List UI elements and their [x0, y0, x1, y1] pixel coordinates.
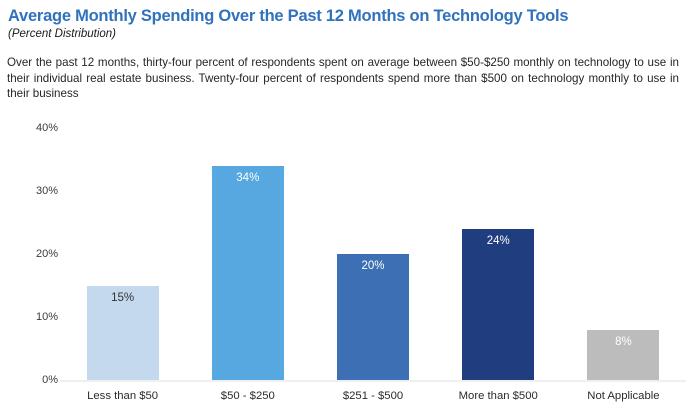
x-axis-category-label: Not Applicable — [561, 390, 686, 402]
bar-slot: 24% — [436, 128, 561, 380]
page-title: Average Monthly Spending Over the Past 1… — [8, 6, 688, 27]
bar[interactable]: 24% — [462, 229, 534, 380]
bar-slot: 20% — [310, 128, 435, 380]
x-axis-category-label: Less than $50 — [60, 390, 185, 402]
bar-slot: 15% — [60, 128, 185, 380]
x-axis-labels: Less than $50$50 - $250$251 - $500More t… — [60, 390, 686, 402]
y-axis-tick-label: 0% — [12, 374, 58, 386]
bar[interactable]: 8% — [587, 330, 659, 380]
bar-value-label: 34% — [212, 173, 284, 185]
page-subtitle: (Percent Distribution) — [8, 28, 688, 42]
bar-chart: 0%10%20%30%40% 15%34%20%24%8% Less than … — [0, 118, 694, 409]
x-axis-baseline — [60, 380, 686, 382]
x-axis-category-label: More than $500 — [436, 390, 561, 402]
bar[interactable]: 34% — [212, 166, 284, 380]
y-axis-tick-label: 30% — [12, 185, 58, 197]
y-axis-tick-label: 20% — [12, 248, 58, 260]
chart-page: Average Monthly Spending Over the Past 1… — [0, 0, 694, 409]
description-text: Over the past 12 months, thirty-four per… — [7, 55, 679, 102]
bar-slot: 8% — [561, 128, 686, 380]
bar-value-label: 20% — [337, 261, 409, 273]
bar-value-label: 15% — [87, 293, 159, 305]
x-axis-category-label: $251 - $500 — [310, 390, 435, 402]
bar-value-label: 8% — [587, 337, 659, 349]
bar-series: 15%34%20%24%8% — [60, 128, 686, 380]
bar-value-label: 24% — [462, 236, 534, 248]
bar[interactable]: 15% — [87, 286, 159, 381]
y-axis-tick-label: 40% — [12, 122, 58, 134]
bar-slot: 34% — [185, 128, 310, 380]
x-axis-category-label: $50 - $250 — [185, 390, 310, 402]
y-axis-tick-label: 10% — [12, 311, 58, 323]
chart-header: Average Monthly Spending Over the Past 1… — [8, 6, 688, 41]
bar[interactable]: 20% — [337, 254, 409, 380]
